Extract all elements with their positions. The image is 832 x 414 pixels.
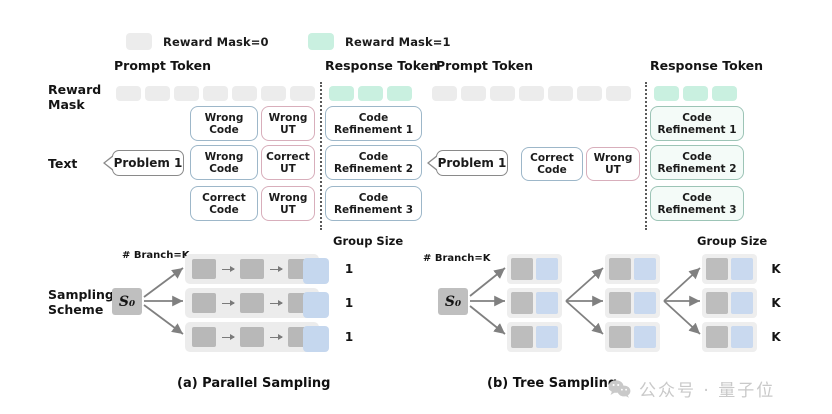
- tree-node-value-box: [731, 258, 753, 280]
- mask-token-response: [712, 86, 737, 101]
- chain-arrow-icon: [270, 337, 282, 338]
- tree-node-l1-1: [507, 254, 562, 284]
- caption-panel-a: (a) Parallel Sampling: [177, 376, 331, 391]
- tree-node-l1-2: [507, 288, 562, 318]
- chain-arrow-icon: [222, 303, 234, 304]
- tree-node-l3-1: [702, 254, 757, 284]
- group-size-header-a: Group Size: [333, 234, 403, 248]
- mask-token-row-prompt-a: [116, 86, 315, 101]
- mask-token-prompt: [577, 86, 602, 101]
- mask-token-prompt: [606, 86, 631, 101]
- mask-token-prompt: [290, 86, 315, 101]
- group-size-value-b-3: K: [766, 330, 786, 344]
- tree-node-state-box: [706, 258, 728, 280]
- problem-box-b[interactable]: Problem 1: [436, 150, 508, 176]
- tree-node-value-box: [536, 326, 558, 348]
- mask-token-prompt: [490, 86, 515, 101]
- branch-label-b: # Branch=K: [423, 253, 490, 264]
- ut-box-a-2[interactable]: Correct UT: [261, 145, 315, 180]
- legend-mask-zero-label: Reward Mask=0: [163, 35, 269, 49]
- parallel-chain-row-3: [185, 322, 319, 352]
- chain-arrow-icon: [270, 269, 282, 270]
- mask-token-row-response-a: [329, 86, 412, 101]
- column-header-prompt-token-b: Prompt Token: [436, 58, 533, 73]
- tree-node-state-box: [706, 326, 728, 348]
- mask-token-prompt: [261, 86, 286, 101]
- mask-token-response: [358, 86, 383, 101]
- problem-bubble-tail-b: [429, 156, 438, 170]
- tree-node-state-box: [609, 292, 631, 314]
- chain-arrow-icon: [222, 269, 234, 270]
- parallel-result-box-3: [303, 326, 329, 352]
- column-header-response-token-a: Response Token: [325, 58, 438, 73]
- problem-bubble-tail-a: [105, 156, 114, 170]
- mask-token-prompt: [432, 86, 457, 101]
- tree-node-state-box: [609, 326, 631, 348]
- refinement-box-b-2[interactable]: Code Refinement 2: [650, 145, 744, 180]
- prompt-response-divider-b: [645, 82, 647, 230]
- parallel-chain-row-2: [185, 288, 319, 318]
- column-header-response-token-b: Response Token: [650, 58, 763, 73]
- tree-node-value-box: [536, 292, 558, 314]
- legend-mask-one-label: Reward Mask=1: [345, 35, 451, 49]
- tree-node-state-box: [511, 292, 533, 314]
- wechat-icon: [608, 379, 632, 399]
- caption-panel-b: (b) Tree Sampling: [487, 376, 617, 391]
- group-size-value-a-3: 1: [339, 330, 359, 344]
- parallel-chain-row-1: [185, 254, 319, 284]
- refinement-box-b-3[interactable]: Code Refinement 3: [650, 186, 744, 221]
- refinement-box-b-1[interactable]: Code Refinement 1: [650, 106, 744, 141]
- chain-step-box: [240, 293, 264, 313]
- parallel-result-box-1: [303, 258, 329, 284]
- row-label-text: Text: [48, 156, 77, 171]
- prompt-response-divider-a: [320, 82, 322, 230]
- root-state-node-b: S₀: [438, 288, 468, 315]
- problem-box-label-a: Problem 1: [114, 157, 183, 169]
- watermark-text: 公众号 · 量子位: [639, 376, 775, 401]
- mask-token-prompt: [203, 86, 228, 101]
- problem-box-a[interactable]: Problem 1: [112, 150, 184, 176]
- branch-label-a: # Branch=K: [122, 250, 189, 261]
- refinement-box-a-2[interactable]: Code Refinement 2: [325, 145, 422, 180]
- chain-step-box: [192, 327, 216, 347]
- mask-token-prompt: [461, 86, 486, 101]
- root-state-node-a: S₀: [112, 288, 142, 315]
- row-label-reward-mask: Reward Mask: [48, 82, 118, 112]
- watermark: 公众号 · 量子位: [608, 376, 775, 401]
- column-header-prompt-token-a: Prompt Token: [114, 58, 211, 73]
- tree-node-value-box: [731, 326, 753, 348]
- group-size-value-a-1: 1: [339, 262, 359, 276]
- tree-node-state-box: [511, 326, 533, 348]
- refinement-box-a-3[interactable]: Code Refinement 3: [325, 186, 422, 221]
- code-box-a-1[interactable]: Wrong Code: [190, 106, 258, 141]
- mask-token-row-response-b: [654, 86, 737, 101]
- group-size-value-b-2: K: [766, 296, 786, 310]
- mask-token-prompt: [548, 86, 573, 101]
- mask-token-response: [329, 86, 354, 101]
- mask-token-response: [683, 86, 708, 101]
- tree-node-value-box: [634, 258, 656, 280]
- tree-node-value-box: [634, 326, 656, 348]
- tree-node-l3-3: [702, 322, 757, 352]
- problem-box-label-b: Problem 1: [438, 157, 507, 169]
- tree-node-l2-2: [605, 288, 660, 318]
- mask-token-row-prompt-b: [432, 86, 631, 101]
- mask-token-prompt: [174, 86, 199, 101]
- tree-node-state-box: [706, 292, 728, 314]
- chain-step-box: [240, 259, 264, 279]
- mask-token-prompt: [116, 86, 141, 101]
- group-size-header-b: Group Size: [697, 234, 767, 248]
- chain-arrow-icon: [222, 337, 234, 338]
- code-box-b-1[interactable]: Correct Code: [521, 147, 583, 181]
- chain-arrow-icon: [270, 303, 282, 304]
- tree-node-l3-2: [702, 288, 757, 318]
- row-label-reward-mask-line2: Mask: [48, 97, 118, 112]
- ut-box-b-1[interactable]: Wrong UT: [586, 147, 640, 181]
- tree-node-l2-1: [605, 254, 660, 284]
- parallel-result-box-2: [303, 292, 329, 318]
- code-box-a-3[interactable]: Correct Code: [190, 186, 258, 221]
- ut-box-a-1[interactable]: Wrong UT: [261, 106, 315, 141]
- mask-token-prompt: [232, 86, 257, 101]
- mask-token-prompt: [519, 86, 544, 101]
- legend-mask-one: [308, 33, 334, 50]
- tree-node-state-box: [511, 258, 533, 280]
- mask-one-swatch: [308, 33, 334, 50]
- legend-mask-zero: [126, 33, 152, 50]
- refinement-box-a-1[interactable]: Code Refinement 1: [325, 106, 422, 141]
- mask-zero-swatch: [126, 33, 152, 50]
- tree-node-value-box: [634, 292, 656, 314]
- group-size-value-b-1: K: [766, 262, 786, 276]
- figure-canvas: Reward Mask=0 Reward Mask=1 Prompt Token…: [0, 0, 832, 414]
- tree-node-l2-3: [605, 322, 660, 352]
- tree-node-value-box: [536, 258, 558, 280]
- code-box-a-2[interactable]: Wrong Code: [190, 145, 258, 180]
- mask-token-prompt: [145, 86, 170, 101]
- tree-node-state-box: [609, 258, 631, 280]
- mask-token-response: [654, 86, 679, 101]
- ut-box-a-3[interactable]: Wrong UT: [261, 186, 315, 221]
- tree-node-value-box: [731, 292, 753, 314]
- row-label-reward-mask-line1: Reward: [48, 82, 118, 97]
- chain-step-box: [192, 293, 216, 313]
- mask-token-response: [387, 86, 412, 101]
- tree-node-l1-3: [507, 322, 562, 352]
- group-size-value-a-2: 1: [339, 296, 359, 310]
- chain-step-box: [240, 327, 264, 347]
- chain-step-box: [192, 259, 216, 279]
